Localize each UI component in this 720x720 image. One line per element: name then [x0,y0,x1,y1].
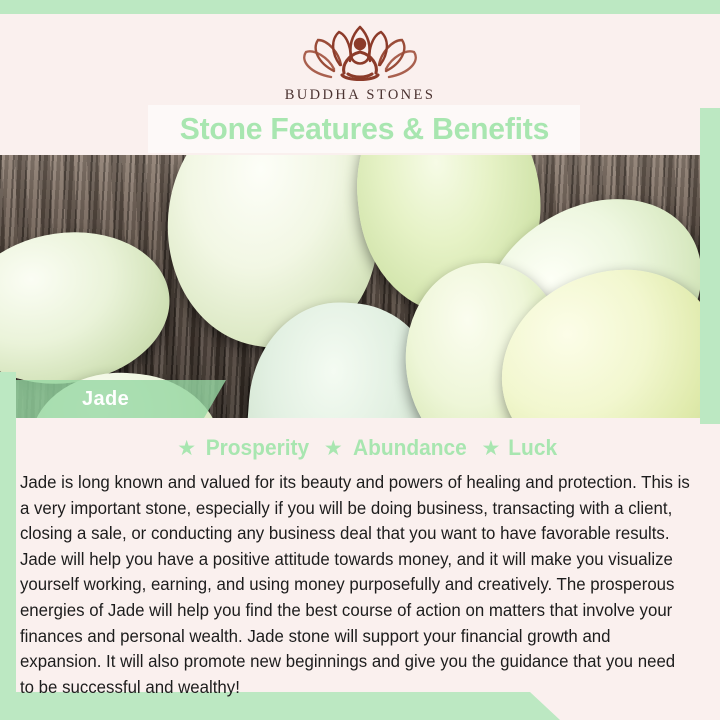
stone-description: Jade is long known and valued for its be… [16,464,709,700]
jade-stones-photo: Jade [0,155,720,418]
brand-name: BUDDHA STONES [285,87,436,104]
stone-name: Jade [82,388,129,411]
benefit-abundance: ★ Abundance [324,435,470,461]
benefit-label: Abundance [353,435,467,461]
infographic-page: BUDDHA STONES Stone Features & Benefits … [0,0,720,720]
decorative-band-left [0,372,16,720]
benefit-luck: ★ Luck [482,435,559,461]
page-title: Stone Features & Benefits [179,111,548,147]
brand-header: BUDDHA STONES [0,14,720,108]
benefits-row: ★ Prosperity ★ Abundance ★ Luck [16,424,720,464]
benefit-prosperity: ★ Prosperity [177,435,312,461]
title-banner: Stone Features & Benefits [148,105,580,153]
lotus-meditation-figure-icon [298,19,422,85]
star-icon: ★ [482,438,501,459]
decorative-band-top [0,0,720,14]
content-panel: ★ Prosperity ★ Abundance ★ Luck Jade is … [16,424,720,692]
star-icon: ★ [324,438,343,459]
stone-name-banner: Jade [16,380,226,418]
brand-logo: BUDDHA STONES [285,19,436,104]
star-icon: ★ [177,438,196,459]
benefit-label: Prosperity [206,435,309,461]
benefit-label: Luck [509,435,558,461]
